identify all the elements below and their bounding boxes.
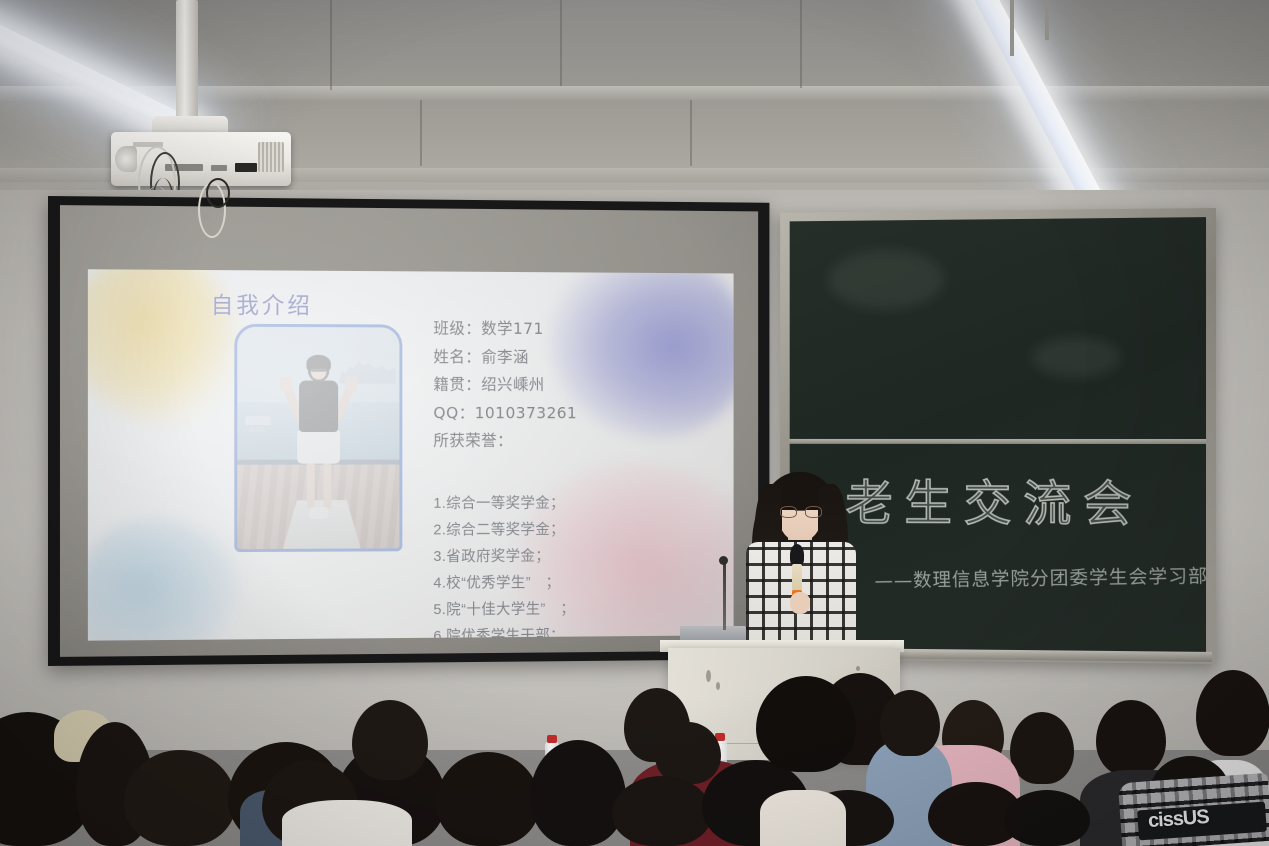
lectern-scuff — [716, 682, 720, 690]
classroom-scene: 自我介绍 — [0, 0, 1269, 846]
presentation-slide: 自我介绍 — [88, 269, 734, 640]
microphone-body — [792, 564, 802, 592]
lectern-scuff — [706, 670, 711, 682]
chalk-smudge — [828, 249, 944, 309]
ceiling-panel-seam — [560, 0, 562, 86]
screen-hanging-cord-dark — [206, 178, 230, 208]
audience-head — [655, 722, 721, 784]
microphone-stand — [723, 560, 726, 630]
bottle-cap — [547, 735, 557, 743]
audience-head — [756, 676, 856, 772]
presenter-glasses — [780, 506, 820, 516]
projector-port — [211, 165, 227, 171]
slide-projection-washout — [88, 269, 734, 640]
light-suspension-rod — [1045, 0, 1049, 40]
audience-head — [612, 776, 712, 846]
chalk-smudge — [1032, 337, 1121, 377]
projection-screen-surface: 自我介绍 — [60, 205, 758, 657]
presenter-hand — [790, 592, 810, 614]
glasses-lens — [780, 506, 797, 518]
audience-head — [530, 740, 626, 846]
ceiling-panel-seam — [330, 0, 332, 90]
microphone-head — [790, 544, 804, 566]
audience-head — [1096, 700, 1166, 776]
blackboard-subtitle: ——数理信息学院分团委学生会学习部 — [874, 561, 1208, 593]
audience-head — [436, 752, 540, 846]
glasses-bridge — [795, 510, 805, 511]
projector-lens — [115, 146, 137, 172]
ceiling-panel-seam — [690, 100, 692, 166]
blackboard-panel-divider — [790, 439, 1206, 444]
audience-head — [1010, 712, 1074, 784]
glasses-lens — [805, 506, 822, 518]
projection-screen: 自我介绍 — [48, 196, 769, 666]
jacket-logo-text: cissUS — [1147, 806, 1209, 833]
lectern-scuff — [856, 666, 860, 671]
audience-head — [1196, 670, 1269, 756]
audience-head — [352, 700, 428, 780]
ceiling-panel-seam — [420, 100, 422, 166]
audience-head — [880, 690, 940, 756]
audience-head — [1004, 790, 1090, 846]
ceiling-panel-seam — [800, 0, 802, 88]
microphone-stand-tip — [719, 556, 728, 565]
audience-head — [124, 750, 236, 846]
light-suspension-rod — [1010, 0, 1014, 56]
projector-connector — [235, 163, 257, 172]
audience-torso-light — [760, 790, 846, 846]
projector-mount-pole — [176, 0, 198, 122]
projector-vent — [258, 142, 284, 172]
blackboard-title: 老生交流会 — [845, 464, 1143, 535]
audience-torso-hoodie — [282, 800, 412, 846]
presenter — [730, 470, 870, 660]
